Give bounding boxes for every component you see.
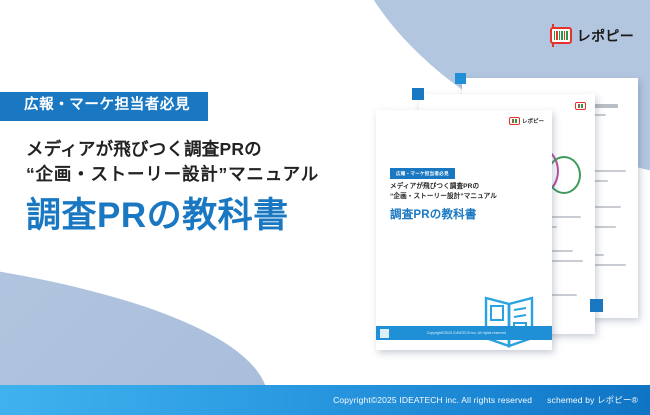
background-arc-bottom-left <box>0 244 268 400</box>
hero-title: 調査PRの教科書 <box>0 195 319 237</box>
document-cover-logo: レポピー <box>509 117 544 125</box>
document-cover-subtitle-line1: メディアが飛びつく調査PRの <box>390 182 497 192</box>
document-footer-mark <box>380 329 389 338</box>
slide-canvas: レポピー 広報・マーケ担当者必見 メディアが飛びつく調査PRの “企画・ストーリ… <box>0 0 650 415</box>
document-cover-subtitle: メディアが飛びつく調査PRの “企画・ストーリー設計”マニュアル <box>390 182 497 201</box>
footer-copyright: Copyright©2025 IDEATECH inc. All rights … <box>333 395 532 405</box>
document-cover-badge: 広報・マーケ担当者必見 <box>390 168 455 179</box>
footer-schemed-by: schemed by レポピー® <box>547 395 638 405</box>
brand-logo: レポピー <box>550 27 634 44</box>
brand-logo-text: レポピー <box>577 29 634 43</box>
sheet-corner-tab <box>455 73 466 84</box>
hero-text-block: 広報・マーケ担当者必見 メディアが飛びつく調査PRの “企画・ストーリー設計”マ… <box>0 92 319 237</box>
document-stack: レポピー 広報・マーケ担当者必見 メディアが飛びつく調査PRの “企画・ストーリ… <box>376 78 638 348</box>
open-book-icon <box>480 290 538 350</box>
document-cover-footer: Copyright©2025 IDEATECH inc. All rights … <box>376 326 552 340</box>
sheet-corner-tab <box>412 88 424 100</box>
document-sheet-front: レポピー 広報・マーケ担当者必見 メディアが飛びつく調査PRの “企画・ストーリ… <box>376 110 552 350</box>
document-footer-text: Copyright©2025 IDEATECH inc. All rights … <box>389 331 552 335</box>
hero-subtitle-line2: “企画・ストーリー設計”マニュアル <box>26 162 319 187</box>
page-footer: Copyright©2025 IDEATECH inc. All rights … <box>0 385 650 415</box>
barcode-icon <box>509 117 520 125</box>
sheet-corner-tab <box>590 299 603 312</box>
document-cover-title: 調査PRの教科書 <box>390 206 477 222</box>
document-cover: レポピー 広報・マーケ担当者必見 メディアが飛びつく調査PRの “企画・ストーリ… <box>376 110 552 350</box>
hero-subtitle-line1: メディアが飛びつく調査PRの <box>26 137 319 162</box>
document-cover-logo-text: レポピー <box>522 117 544 125</box>
hero-badge: 広報・マーケ担当者必見 <box>0 92 208 121</box>
barcode-icon <box>575 102 586 110</box>
document-cover-subtitle-line2: “企画・ストーリー設計”マニュアル <box>390 192 497 202</box>
barcode-icon <box>550 27 572 44</box>
footer-text: Copyright©2025 IDEATECH inc. All rights … <box>333 394 650 406</box>
hero-subtitle: メディアが飛びつく調査PRの “企画・ストーリー設計”マニュアル <box>0 137 319 187</box>
